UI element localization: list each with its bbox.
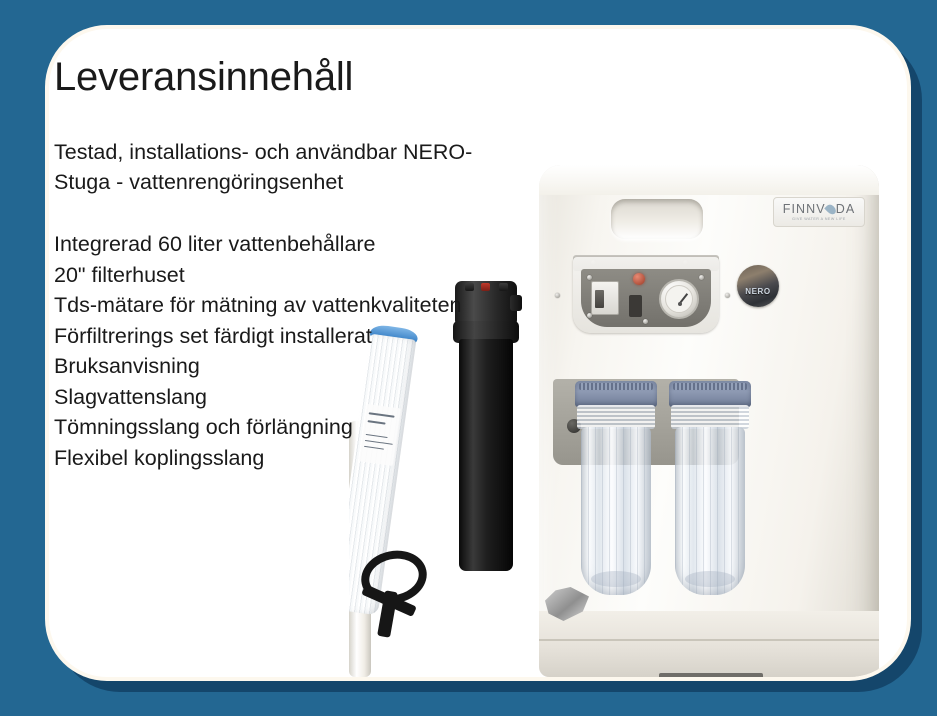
filter-bowl (675, 427, 745, 595)
panel-screw (643, 319, 648, 324)
content-card: FINNV DA GIVE WATER A NEW LIFE (49, 29, 907, 677)
filter-housing-left (575, 381, 657, 603)
brand-text-left: FINNV (783, 203, 826, 216)
filter-cap (669, 381, 751, 407)
nero-sticker-label: NERO (737, 287, 779, 296)
nero-sticker: NERO (737, 265, 779, 307)
list-item: Förfiltrerings set färdigt installerat (54, 321, 524, 352)
panel-screw (587, 275, 592, 280)
filter-collar (671, 405, 749, 429)
brand-text-right: DA (836, 203, 856, 216)
filter-cap (575, 381, 657, 407)
cabinet-screw (555, 293, 560, 298)
panel-module (629, 295, 642, 317)
cabinet-base (539, 611, 879, 677)
slide-root: FINNV DA GIVE WATER A NEW LIFE (0, 0, 937, 716)
cabinet-base-seam (539, 639, 879, 641)
pressure-gauge-icon (659, 279, 699, 319)
filter-collar (577, 405, 655, 429)
brand-tagline: GIVE WATER A NEW LIFE (792, 217, 846, 221)
list-item: 20" filterhuset (54, 260, 524, 291)
page-title: Leveransinnehåll (54, 55, 353, 100)
cabinet-foot (659, 673, 763, 677)
list-item: Slagvattenslang (54, 382, 524, 413)
cabinet-top-face (539, 165, 879, 195)
filter-bowl (581, 427, 651, 595)
finnvoda-brand-plate: FINNV DA GIVE WATER A NEW LIFE (773, 197, 865, 227)
list-item: Integrerad 60 liter vattenbehållare (54, 229, 524, 260)
intro-paragraph: Testad, installations- och användbar NER… (54, 137, 524, 197)
list-item: Tömningsslang och förlängning (54, 412, 524, 443)
list-item: Bruksanvisning (54, 351, 524, 382)
cabinet-screw (725, 293, 730, 298)
gauge-hub (678, 302, 682, 306)
carry-handle-icon (611, 199, 703, 239)
gauge-dial (665, 285, 693, 313)
control-panel-face (581, 269, 711, 327)
brand-wordmark: FINNV DA (783, 203, 856, 216)
panel-screw (699, 275, 704, 280)
breaker-switch-icon[interactable] (591, 281, 619, 315)
indicator-lamp-icon (633, 273, 645, 285)
spec-list: Integrerad 60 liter vattenbehållare 20" … (54, 229, 524, 473)
list-item: Tds-mätare för mätning av vattenkvalitet… (54, 290, 524, 321)
filter-wrench-icon (357, 551, 441, 637)
nero-stuga-cabinet: FINNV DA GIVE WATER A NEW LIFE (539, 165, 879, 677)
filter-housing-right (669, 381, 751, 603)
list-item: Flexibel koplingsslang (54, 443, 524, 474)
